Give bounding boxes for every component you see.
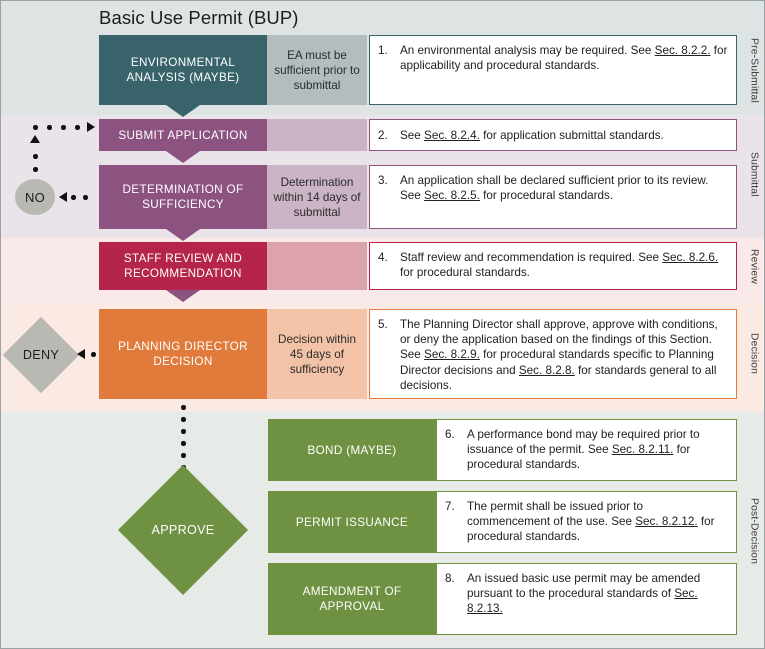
description-box-submit-application: 2. See Sec. 8.2.4. for application submi…	[369, 119, 737, 151]
dot-approve-3	[181, 429, 186, 434]
dot-approve-1	[181, 405, 186, 410]
description-text-7: The permit shall be issued prior to comm…	[467, 499, 728, 545]
description-text-3: An application shall be declared suffici…	[400, 173, 728, 203]
link-sec-8-2-2[interactable]: Sec. 8.2.2.	[655, 44, 711, 57]
timing-box-staff-review-and-recommendation	[267, 242, 367, 290]
description-text-4: Staff review and recommendation is requi…	[400, 250, 728, 280]
decision-node-deny[interactable]: DENY	[14, 328, 68, 382]
arrow-no-left	[59, 192, 67, 202]
arrow-resubmit-right	[87, 122, 95, 132]
phase-label-post-decision: Post-Decision	[746, 471, 762, 591]
decision-label-approve: APPROVE	[152, 523, 215, 537]
timing-label-determination-of-sufficiency: Determination within 14 days of submitta…	[272, 175, 362, 220]
page-title: Basic Use Permit (BUP)	[99, 7, 299, 29]
step-box-permit-issuance[interactable]: PERMIT ISSUANCE	[268, 491, 436, 553]
arrow-no-up	[30, 135, 40, 143]
description-text-5: The Planning Director shall approve, app…	[400, 317, 728, 393]
description-text-8: An issued basic use permit may be amende…	[467, 571, 728, 617]
description-text-2: See Sec. 8.2.4. for application submitta…	[400, 128, 728, 143]
dot-resubmit-2	[47, 125, 52, 130]
step-box-submit-application[interactable]: SUBMIT APPLICATION	[99, 119, 267, 151]
description-number-7: 7.	[445, 499, 461, 514]
step-label-determination-of-sufficiency: DETERMINATION OF SUFFICIENCY	[105, 182, 261, 212]
description-box-bond: 6. A performance bond may be required pr…	[436, 419, 737, 481]
description-text-1: An environmental analysis may be require…	[400, 43, 728, 73]
dot-resubmit-3	[61, 125, 66, 130]
description-number-5: 5.	[378, 317, 394, 332]
dot-approve-2	[181, 417, 186, 422]
link-sec-8-2-6[interactable]: Sec. 8.2.6.	[662, 251, 718, 264]
step-box-determination-of-sufficiency[interactable]: DETERMINATION OF SUFFICIENCY	[99, 165, 267, 229]
decision-node-no[interactable]: NO	[15, 179, 55, 215]
step-box-amendment-of-approval[interactable]: AMENDMENT OF APPROVAL	[268, 563, 436, 635]
description-number-1: 1.	[378, 43, 394, 58]
description-number-6: 6.	[445, 427, 461, 442]
step-box-environmental-analysis[interactable]: ENVIRONMENTAL ANALYSIS (MAYBE)	[99, 35, 267, 105]
step-label-environmental-analysis: ENVIRONMENTAL ANALYSIS (MAYBE)	[105, 55, 261, 85]
description-number-4: 4.	[378, 250, 394, 265]
phase-label-decision: Decision	[746, 309, 762, 399]
step-label-staff-review-and-recommendation: STAFF REVIEW AND RECOMMENDATION	[105, 251, 261, 281]
dot-no-h-2	[71, 195, 76, 200]
link-sec-8-2-9[interactable]: Sec. 8.2.9.	[424, 348, 480, 361]
description-number-3: 3.	[378, 173, 394, 188]
step-label-bond: BOND (MAYBE)	[307, 443, 396, 458]
dot-deny-1	[91, 352, 96, 357]
dot-resubmit-1	[33, 125, 38, 130]
description-box-amendment-of-approval: 8. An issued basic use permit may be ame…	[436, 563, 737, 635]
description-box-determination-of-sufficiency: 3. An application shall be declared suff…	[369, 165, 737, 229]
link-sec-8-2-11[interactable]: Sec. 8.2.11.	[612, 443, 674, 456]
connector-chevron-2	[166, 151, 200, 163]
step-label-planning-director-decision: PLANNING DIRECTOR DECISION	[105, 339, 261, 369]
step-box-staff-review-and-recommendation[interactable]: STAFF REVIEW AND RECOMMENDATION	[99, 242, 267, 290]
link-sec-8-2-5[interactable]: Sec. 8.2.5.	[424, 189, 480, 202]
dot-approve-4	[181, 441, 186, 446]
link-sec-8-2-13[interactable]: Sec. 8.2.13.	[467, 587, 698, 615]
connector-chevron-1	[166, 105, 200, 117]
description-number-2: 2.	[378, 128, 394, 143]
timing-box-submit-application	[267, 119, 367, 151]
step-label-permit-issuance: PERMIT ISSUANCE	[296, 515, 408, 530]
connector-chevron-4	[166, 290, 200, 302]
link-sec-8-2-12[interactable]: Sec. 8.2.12.	[635, 515, 697, 528]
timing-box-environmental-analysis: EA must be sufficient prior to submittal	[267, 35, 367, 105]
step-box-planning-director-decision[interactable]: PLANNING DIRECTOR DECISION	[99, 309, 267, 399]
timing-box-determination-of-sufficiency: Determination within 14 days of submitta…	[267, 165, 367, 229]
description-box-permit-issuance: 7. The permit shall be issued prior to c…	[436, 491, 737, 553]
phase-label-submittal: Submittal	[746, 119, 762, 229]
dot-no-h-1	[83, 195, 88, 200]
link-sec-8-2-4[interactable]: Sec. 8.2.4.	[424, 129, 480, 142]
decision-label-deny: DENY	[23, 348, 59, 362]
timing-label-environmental-analysis: EA must be sufficient prior to submittal	[272, 48, 362, 93]
description-box-staff-review-and-recommendation: 4. Staff review and recommendation is re…	[369, 242, 737, 290]
phase-label-pre-submittal: Pre-Submittal	[746, 35, 762, 105]
step-label-submit-application: SUBMIT APPLICATION	[118, 128, 247, 143]
bup-flowchart: Basic Use Permit (BUP) ENVIRONMENTAL ANA…	[0, 0, 765, 649]
decision-node-approve[interactable]: APPROVE	[137, 484, 229, 576]
description-text-6: A performance bond may be required prior…	[467, 427, 728, 473]
decision-label-no: NO	[25, 190, 45, 205]
dot-approve-5	[181, 453, 186, 458]
arrow-deny-left	[77, 349, 85, 359]
description-box-environmental-analysis: 1. An environmental analysis may be requ…	[369, 35, 737, 105]
link-sec-8-2-8[interactable]: Sec. 8.2.8.	[519, 364, 575, 377]
timing-box-planning-director-decision: Decision within 45 days of sufficiency	[267, 309, 367, 399]
dot-no-v-2	[33, 154, 38, 159]
step-box-bond[interactable]: BOND (MAYBE)	[268, 419, 436, 481]
description-number-8: 8.	[445, 571, 461, 586]
description-box-planning-director-decision: 5. The Planning Director shall approve, …	[369, 309, 737, 399]
connector-chevron-3	[166, 229, 200, 241]
timing-label-planning-director-decision: Decision within 45 days of sufficiency	[272, 332, 362, 377]
step-label-amendment-of-approval: AMENDMENT OF APPROVAL	[274, 584, 430, 614]
phase-label-review: Review	[746, 242, 762, 290]
dot-no-v-1	[33, 167, 38, 172]
dot-resubmit-4	[75, 125, 80, 130]
